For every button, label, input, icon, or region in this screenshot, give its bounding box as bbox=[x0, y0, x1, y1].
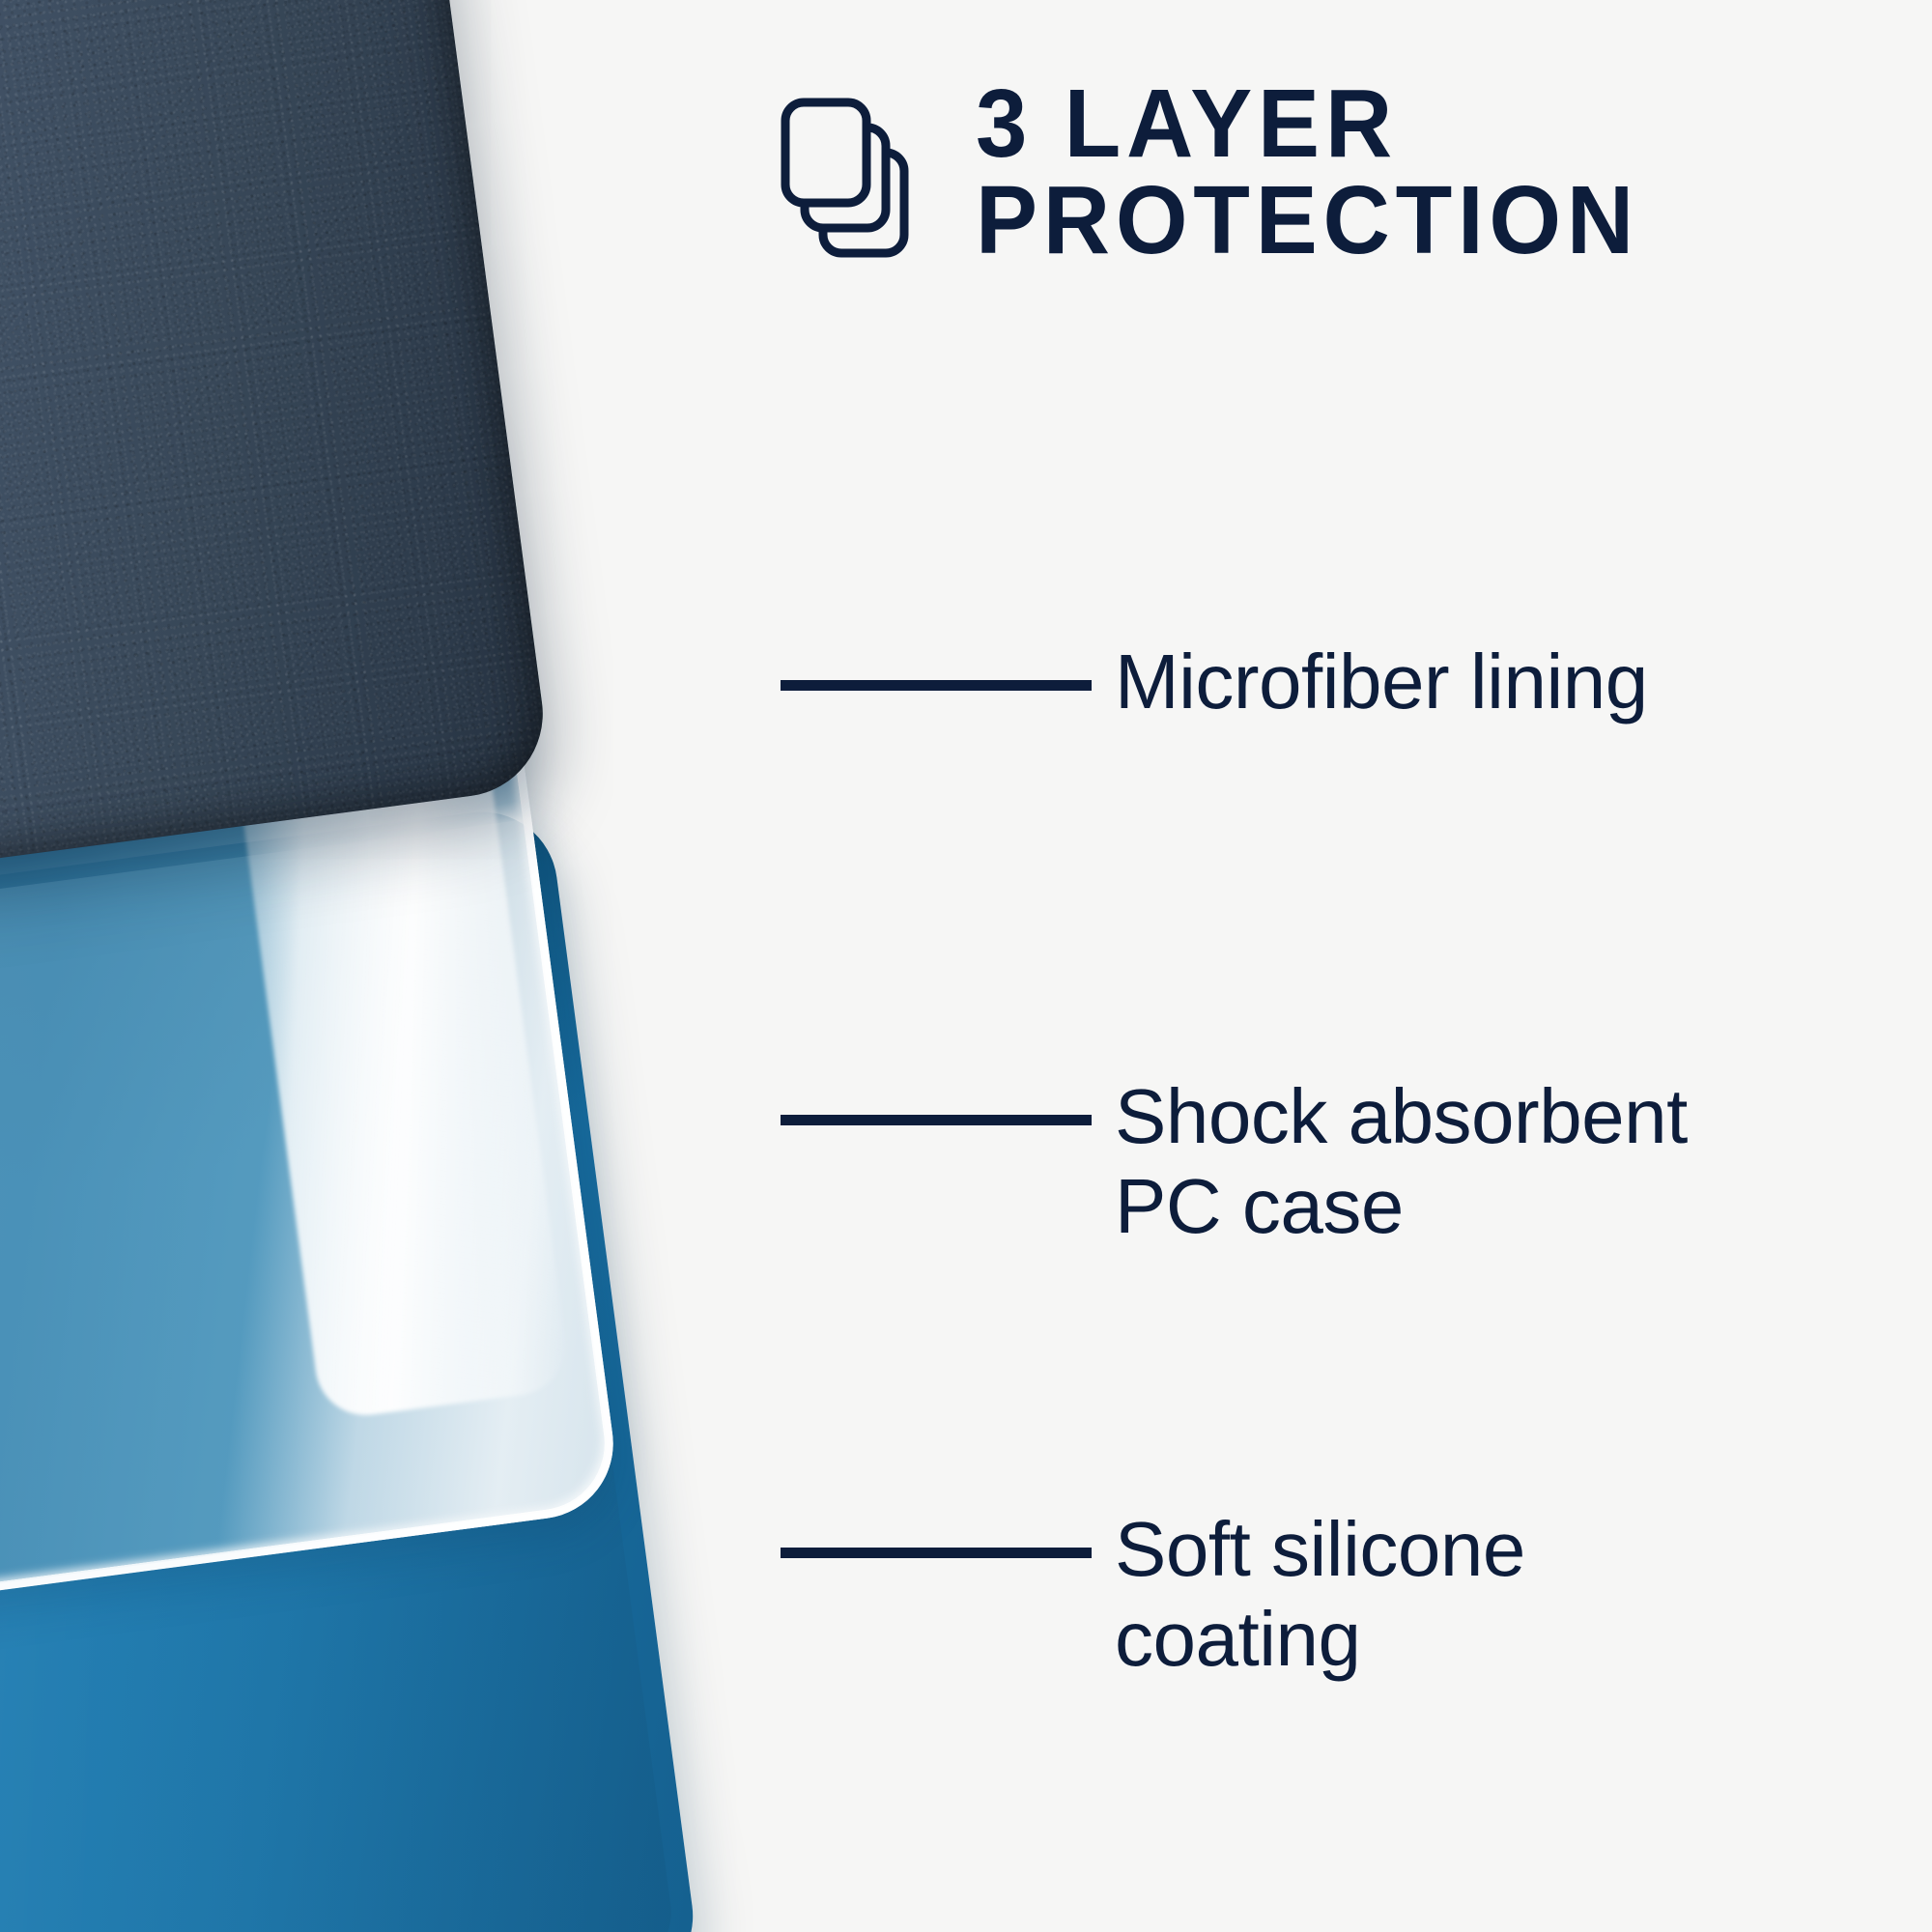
header-block: 3 LAYER PROTECTION bbox=[779, 75, 1928, 269]
callout-label-silicone: Soft silicone coating bbox=[1115, 1505, 1525, 1685]
leader-line-silicone bbox=[781, 1548, 1092, 1558]
callout-label-microfiber: Microfiber lining bbox=[1115, 638, 1648, 727]
callout-pc-case: Shock absorbent PC case bbox=[781, 1072, 1688, 1252]
microfiber-lining-layer bbox=[0, 0, 553, 886]
stacked-layers-icon bbox=[779, 83, 933, 267]
microfiber-sheen bbox=[0, 0, 553, 886]
microfiber-edge-shading bbox=[0, 0, 553, 886]
leader-line-pc-case bbox=[781, 1115, 1092, 1125]
callout-microfiber-lining: Microfiber lining bbox=[781, 638, 1648, 727]
callout-silicone-coating: Soft silicone coating bbox=[781, 1505, 1525, 1685]
callout-label-pc-case: Shock absorbent PC case bbox=[1115, 1072, 1688, 1252]
page-title: 3 LAYER PROTECTION bbox=[976, 75, 1639, 269]
leader-line-microfiber bbox=[781, 680, 1092, 691]
infographic-canvas: 3 LAYER PROTECTION Microfiber lining Sho… bbox=[0, 0, 1932, 1932]
